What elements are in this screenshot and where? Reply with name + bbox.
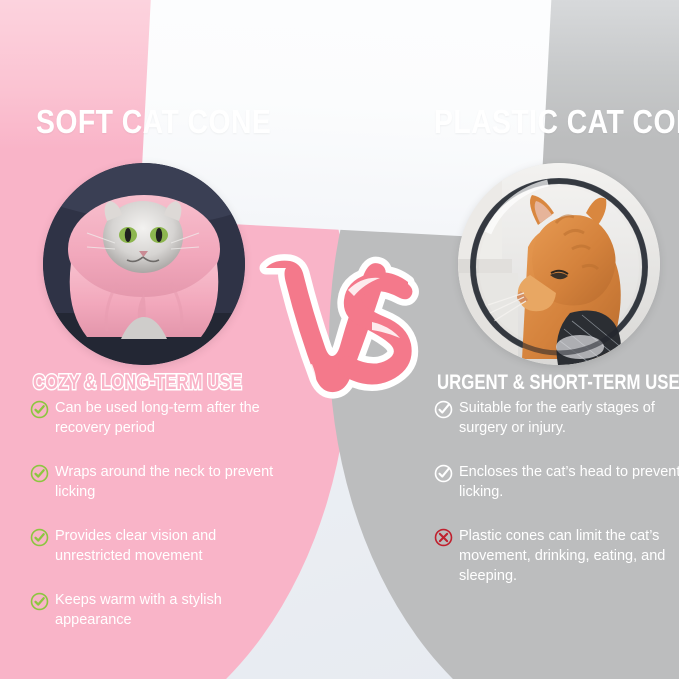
white-check-circle-icon — [434, 400, 453, 419]
green-check-circle-icon — [30, 464, 49, 483]
left-title: SOFT CAT CONE — [36, 105, 271, 138]
list-item: Encloses the cat’s head to prevent licki… — [434, 462, 679, 502]
red-cross-circle-icon — [434, 528, 453, 547]
green-check-circle-icon — [30, 528, 49, 547]
list-item-label: Can be used long-term after the recovery… — [55, 398, 280, 438]
list-item: Keeps warm with a stylish appearance — [30, 590, 280, 630]
list-item: Suitable for the early stages of surgery… — [434, 398, 679, 438]
left-subtitle: COZY & LONG-TERM USE — [33, 372, 242, 393]
plastic-cone-cat-illustration — [458, 163, 660, 365]
list-item-label: Plastic cones can limit the cat’s moveme… — [459, 526, 679, 586]
list-item-label: Wraps around the neck to prevent licking — [55, 462, 280, 502]
right-product-photo — [458, 163, 660, 365]
list-item-label: Encloses the cat’s head to prevent licki… — [459, 462, 679, 502]
right-feature-list: Suitable for the early stages of surgery… — [434, 398, 679, 610]
right-title: PLASTIC CAT CONE — [434, 105, 679, 138]
green-check-circle-icon — [30, 592, 49, 611]
soft-cone-cat-illustration — [43, 163, 245, 365]
list-item-label: Keeps warm with a stylish appearance — [55, 590, 280, 630]
list-item: Wraps around the neck to prevent licking — [30, 462, 280, 502]
list-item: Plastic cones can limit the cat’s moveme… — [434, 526, 679, 586]
list-item-label: Provides clear vision and unrestricted m… — [55, 526, 280, 566]
list-item-label: Suitable for the early stages of surgery… — [459, 398, 679, 438]
white-check-circle-icon — [434, 464, 453, 483]
green-check-circle-icon — [30, 400, 49, 419]
comparison-infographic: SOFT CAT CONE PLASTIC CAT CONE — [0, 0, 679, 679]
right-subtitle: URGENT & SHORT-TERM USE — [437, 372, 679, 393]
list-item: Provides clear vision and unrestricted m… — [30, 526, 280, 566]
list-item: Can be used long-term after the recovery… — [30, 398, 280, 438]
left-feature-list: Can be used long-term after the recovery… — [30, 398, 280, 654]
left-product-photo — [43, 163, 245, 365]
